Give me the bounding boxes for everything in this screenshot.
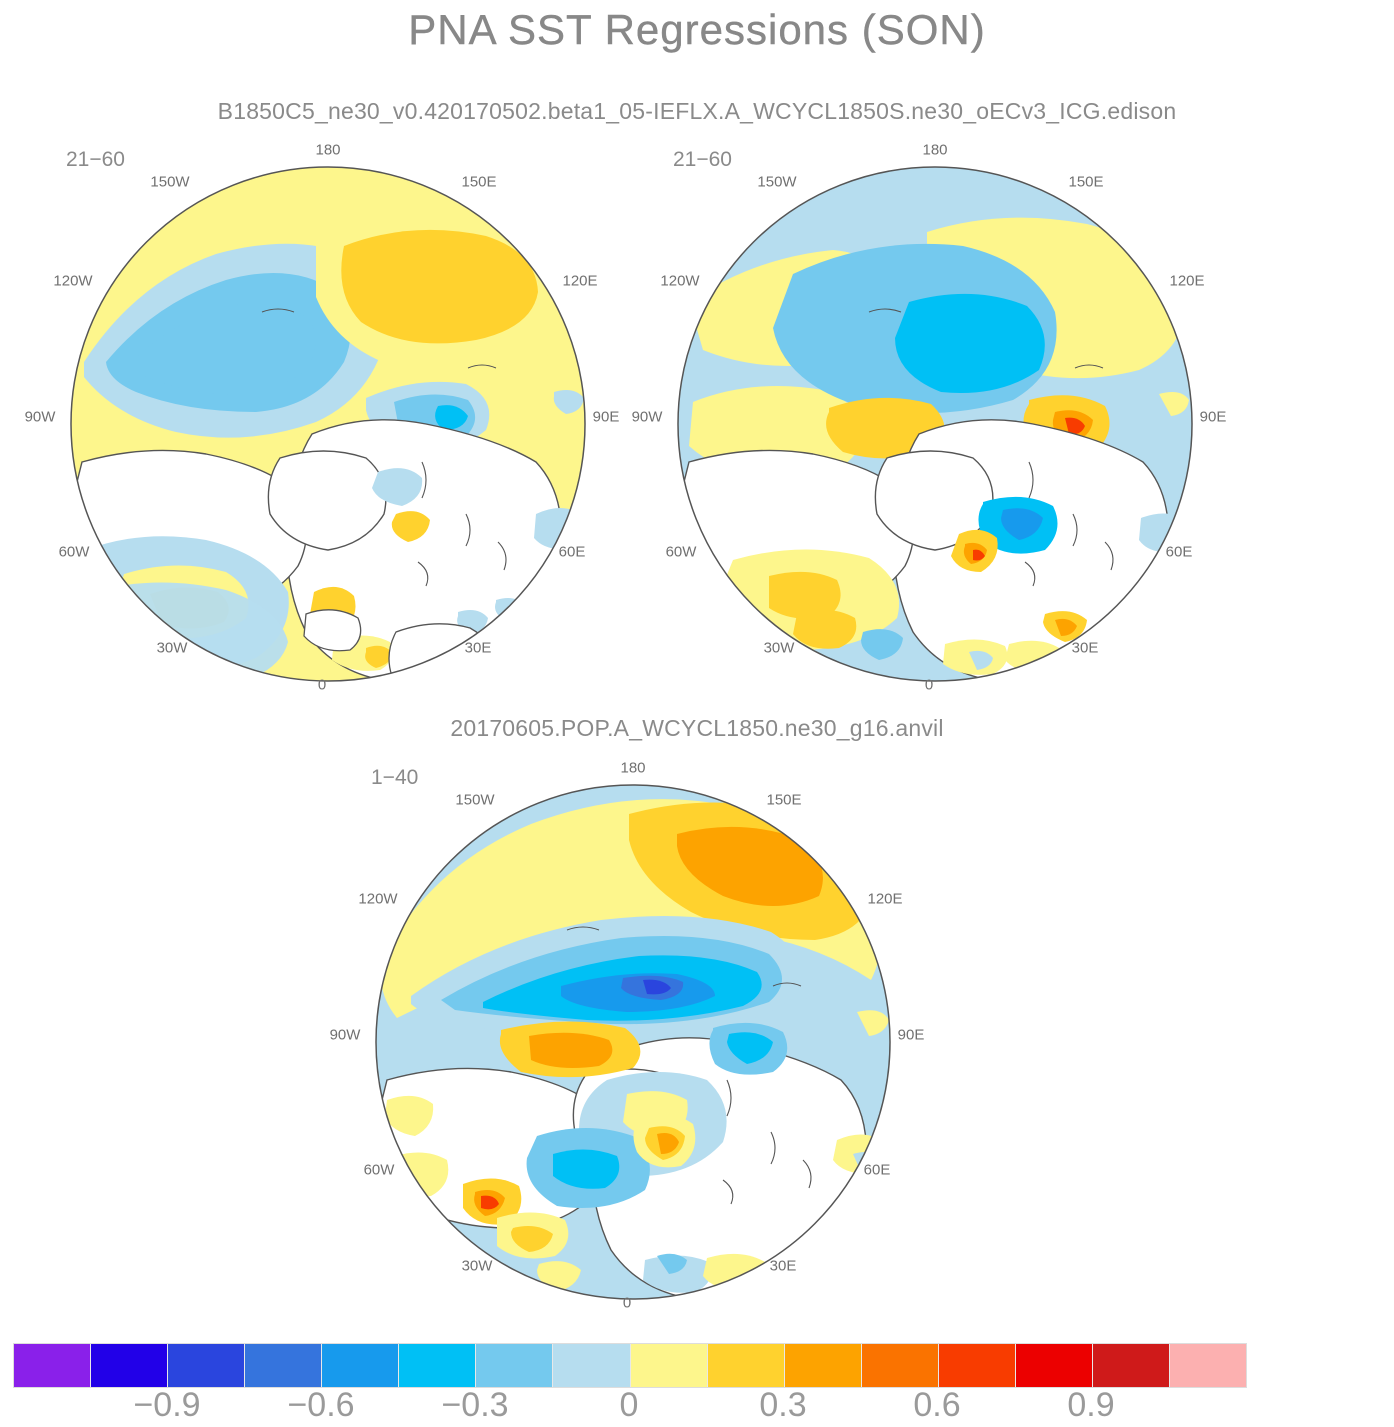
colorbar-cell-3 xyxy=(245,1344,322,1387)
lon-label-30W: 30W xyxy=(764,640,795,657)
lon-label-60E: 60E xyxy=(559,544,586,561)
lon-label-0: 0 xyxy=(318,677,326,694)
colorbar-cell-5 xyxy=(399,1344,476,1387)
map-panel-top-right: 21−60 xyxy=(607,140,1247,700)
lon-label-60E: 60E xyxy=(1166,544,1193,561)
globe-top-left xyxy=(66,162,590,686)
polar-map-svg xyxy=(673,162,1197,686)
colorbar-cell-12 xyxy=(939,1344,1016,1387)
lon-label-150E: 150E xyxy=(766,792,801,809)
lon-label-120W: 120W xyxy=(53,273,92,290)
lon-label-90E: 90E xyxy=(898,1027,925,1044)
colorbar-tick-0: −0.9 xyxy=(133,1386,200,1425)
lon-label-30W: 30W xyxy=(157,640,188,657)
globe-bottom xyxy=(371,780,895,1304)
colorbar-cell-2 xyxy=(168,1344,245,1387)
lon-label-120E: 120E xyxy=(562,273,597,290)
lon-label-90W: 90W xyxy=(330,1027,361,1044)
lon-label-120W: 120W xyxy=(660,273,699,290)
colorbar-cell-7 xyxy=(553,1344,630,1387)
colorbar-cell-15 xyxy=(1170,1344,1246,1387)
lon-label-150W: 150W xyxy=(455,792,494,809)
lon-label-90W: 90W xyxy=(632,409,663,426)
lon-label-60W: 60W xyxy=(364,1162,395,1179)
lon-label-150W: 150W xyxy=(757,174,796,191)
lon-label-120E: 120E xyxy=(867,891,902,908)
lon-label-30E: 30E xyxy=(770,1258,797,1275)
lon-label-30W: 30W xyxy=(462,1258,493,1275)
colorbar-tick-1: −0.6 xyxy=(287,1386,354,1425)
colorbar-tick-2: −0.3 xyxy=(441,1386,508,1425)
colorbar-cell-14 xyxy=(1093,1344,1170,1387)
lon-label-30E: 30E xyxy=(1072,640,1099,657)
polar-map-svg xyxy=(371,780,895,1304)
colorbar-tick-labels: −0.9−0.6−0.300.30.60.9 xyxy=(0,1386,1394,1427)
lon-label-180: 180 xyxy=(315,142,340,159)
lon-label-0: 0 xyxy=(925,677,933,694)
lon-label-90W: 90W xyxy=(25,409,56,426)
colorbar-cell-13 xyxy=(1016,1344,1093,1387)
lon-label-150E: 150E xyxy=(461,174,496,191)
lon-label-180: 180 xyxy=(922,142,947,159)
map-panel-bottom: 1−40 xyxy=(305,758,945,1318)
subtitle-bottom-experiment: 20170605.POP.A_WCYCL1850.ne30_g16.anvil xyxy=(0,715,1394,742)
colorbar-cell-4 xyxy=(322,1344,399,1387)
lon-label-120E: 120E xyxy=(1169,273,1204,290)
lon-label-150W: 150W xyxy=(150,174,189,191)
lon-label-150E: 150E xyxy=(1068,174,1103,191)
lon-label-60E: 60E xyxy=(864,1162,891,1179)
globe-top-right xyxy=(673,162,1197,686)
lon-label-90E: 90E xyxy=(1200,409,1227,426)
lon-label-180: 180 xyxy=(620,760,645,777)
colorbar-tick-6: 0.9 xyxy=(1067,1386,1114,1425)
colorbar-cell-10 xyxy=(785,1344,862,1387)
polar-map-svg xyxy=(66,162,590,686)
colorbar xyxy=(13,1343,1247,1388)
colorbar-cell-6 xyxy=(476,1344,553,1387)
subtitle-top-experiment: B1850C5_ne30_v0.420170502.beta1_05-IEFLX… xyxy=(0,98,1394,125)
lon-label-60W: 60W xyxy=(666,544,697,561)
lon-label-60W: 60W xyxy=(59,544,90,561)
map-panel-top-left: 21−60 xyxy=(0,140,640,700)
colorbar-cell-1 xyxy=(91,1344,168,1387)
lon-label-0: 0 xyxy=(623,1295,631,1312)
colorbar-tick-3: 0 xyxy=(620,1386,639,1425)
colorbar-cell-9 xyxy=(708,1344,785,1387)
lon-label-30E: 30E xyxy=(465,640,492,657)
colorbar-tick-4: 0.3 xyxy=(759,1386,806,1425)
colorbar-cell-0 xyxy=(14,1344,91,1387)
lon-label-120W: 120W xyxy=(358,891,397,908)
colorbar-cell-8 xyxy=(631,1344,708,1387)
colorbar-tick-5: 0.6 xyxy=(913,1386,960,1425)
colorbar-cell-11 xyxy=(862,1344,939,1387)
page-title: PNA SST Regressions (SON) xyxy=(0,6,1394,54)
